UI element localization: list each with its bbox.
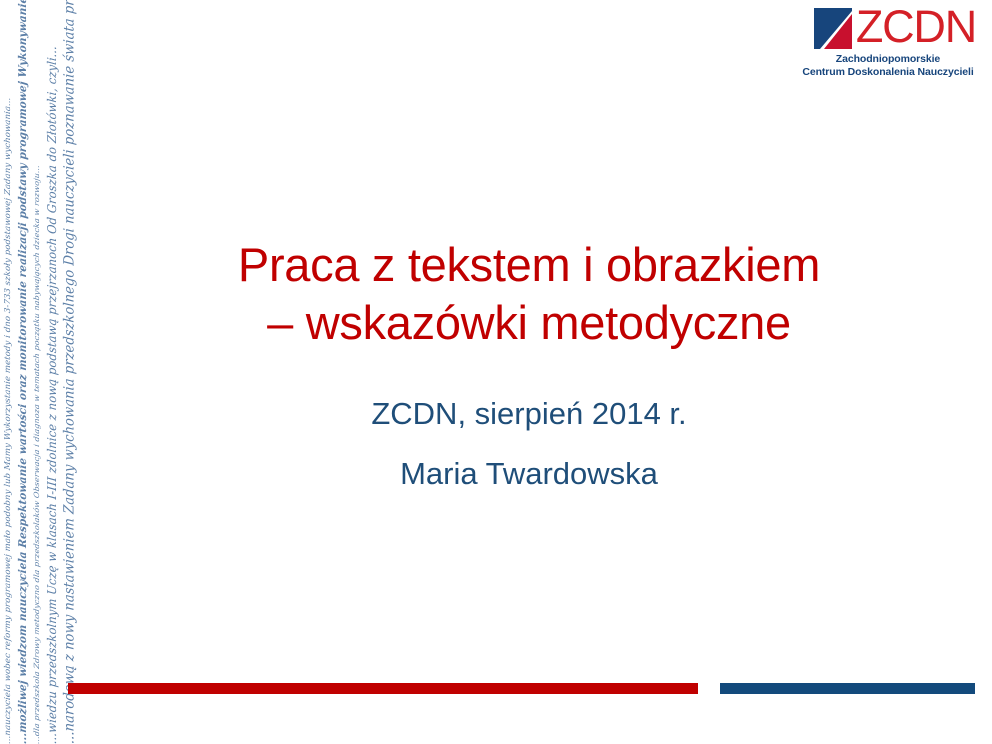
zcdn-logo: ZCDN Zachodniopomorskie Centrum Doskonal… xyxy=(800,6,976,84)
handwriting-line: ...możliwej wiedzom nauczyciela Respekto… xyxy=(16,0,28,744)
zcdn-logo-mark-icon xyxy=(814,8,852,49)
slide-title-line-2: – wskazówki metodyczne xyxy=(267,296,791,349)
handwriting-line: ...narodową z nowy nastawieniem Zadany w… xyxy=(61,0,77,744)
footer-rule-red xyxy=(68,683,698,694)
handwriting-line: ...wiedzu przedszkolnym Uczę w klasach I… xyxy=(44,0,59,744)
zcdn-logo-subtitle-line-2: Centrum Doskonalenia Nauczycieli xyxy=(800,66,976,79)
slide-title: Praca z tekstem i obrazkiem – wskazówki … xyxy=(90,236,968,352)
zcdn-logo-subtitle: Zachodniopomorskie Centrum Doskonalenia … xyxy=(800,53,976,78)
slide-content: Praca z tekstem i obrazkiem – wskazówki … xyxy=(90,236,968,492)
footer-rule-navy xyxy=(720,683,975,694)
zcdn-logo-subtitle-line-1: Zachodniopomorskie xyxy=(800,53,976,66)
slide-subtitle-organization-date: ZCDN, sierpień 2014 r. xyxy=(90,396,968,432)
handwriting-decoration: ...nauczyciela wobec reformy programowej… xyxy=(0,0,80,744)
slide-title-line-1: Praca z tekstem i obrazkiem xyxy=(238,238,820,291)
handwriting-line: ...nauczyciela wobec reformy programowej… xyxy=(3,0,13,744)
slide-subtitle-author: Maria Twardowska xyxy=(90,456,968,492)
handwriting-line: ...dla przedszkola Zdrowy metodyczno dla… xyxy=(32,0,40,744)
slide-subtitle-block: ZCDN, sierpień 2014 r. Maria Twardowska xyxy=(90,396,968,492)
zcdn-wordmark: ZCDN xyxy=(856,6,976,48)
presentation-slide: ...nauczyciela wobec reformy programowej… xyxy=(0,0,992,744)
